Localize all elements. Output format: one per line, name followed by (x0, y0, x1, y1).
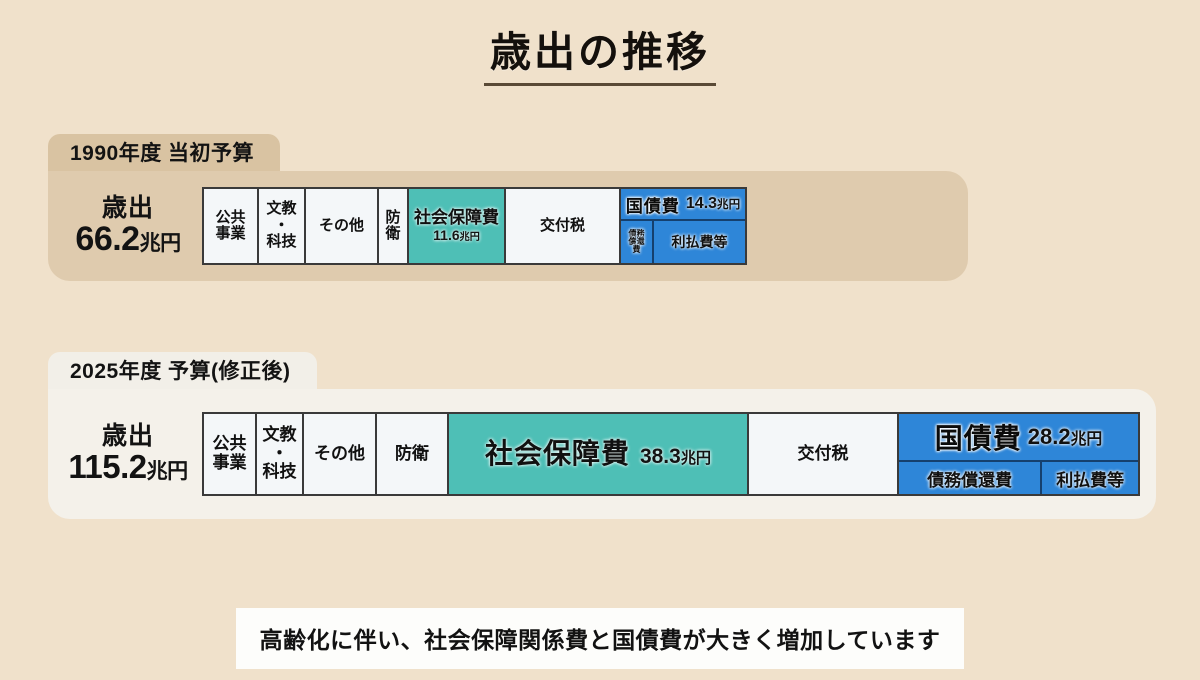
segment-defense-2025[interactable]: 防衛 (377, 414, 449, 494)
total-amount-2025: 115.2兆円 (54, 450, 202, 485)
page-title: 歳出の推移 (484, 18, 716, 86)
interest-payment-1990[interactable]: 利払費等 (654, 221, 745, 263)
card-body-2025: 歳出 115.2兆円 公共 事業 文教 ・ 科技 その他 防衛 社会保障費 38… (48, 389, 1156, 519)
segment-education-science-1990[interactable]: 文教 ・ 科技 (259, 189, 306, 263)
segment-label-public-works-2025: 公共 事業 (213, 435, 247, 472)
segment-label-social-security-1990: 社会保障費 (414, 209, 499, 228)
segment-social-security-inner-2025: 社会保障費 38.3兆円 (485, 439, 711, 470)
segment-public-works-2025[interactable]: 公共 事業 (204, 414, 257, 494)
segment-label-local-allocation-tax-2025: 交付税 (798, 445, 849, 464)
segment-amount-unit-social-security-2025: 兆円 (681, 450, 711, 467)
segment-education-science-2025[interactable]: 文教 ・ 科技 (257, 414, 304, 494)
segment-label-other-1990: その他 (319, 218, 364, 235)
budget-card-2025: 2025年度 予算(修正後) 歳出 115.2兆円 公共 事業 文教 ・ 科技 … (48, 352, 1156, 519)
segment-local-allocation-tax-1990[interactable]: 交付税 (506, 189, 621, 263)
segment-label-defense-1990: 防衛 (379, 210, 407, 243)
debt-service-amount-unit-1990: 兆円 (717, 199, 740, 211)
segment-label-public-works-1990: 公共 事業 (215, 210, 245, 243)
segment-social-security-1990[interactable]: 社会保障費 11.6兆円 (409, 189, 506, 263)
segment-amount-social-security-2025: 38.3兆円 (640, 445, 711, 469)
segment-amount-number-social-security-1990: 11.6 (433, 227, 459, 243)
debt-service-label-1990: 国債費 (626, 192, 680, 217)
debt-service-amount-2025: 28.2兆円 (1028, 424, 1103, 450)
segment-debt-service-1990[interactable]: 国債費 14.3兆円 債務 償還 費 利払費等 (621, 189, 745, 263)
debt-service-subsegments-1990: 債務 償還 費 利払費等 (621, 221, 745, 263)
total-unit-1990: 兆円 (140, 232, 181, 255)
total-expenditure-2025: 歳出 115.2兆円 (54, 423, 202, 484)
total-label-word-1990: 歳出 (54, 195, 202, 222)
total-expenditure-1990: 歳出 66.2兆円 (54, 195, 202, 258)
total-label-word-2025: 歳出 (54, 423, 202, 450)
total-amount-1990: 66.2兆円 (54, 221, 202, 257)
interest-payment-2025[interactable]: 利払費等 (1042, 462, 1138, 494)
segment-debt-service-2025[interactable]: 国債費 28.2兆円 債務償還費 利払費等 (899, 414, 1138, 494)
footer-caption: 高齢化に伴い、社会保障関係費と国債費が大きく増加しています (236, 608, 964, 669)
debt-service-amount-number-1990: 14.3 (686, 195, 717, 212)
card-tab-label-1990: 1990年度 当初予算 (48, 134, 280, 171)
card-tab-label-2025: 2025年度 予算(修正後) (48, 352, 317, 389)
debt-service-label-2025: 国債費 (935, 417, 1022, 457)
debt-redemption-1990[interactable]: 債務 償還 費 (621, 221, 654, 263)
segment-amount-social-security-1990: 11.6兆円 (433, 228, 480, 244)
stacked-bar-1990: 公共 事業 文教 ・ 科技 その他 防衛 社会保障費 11.6兆円 交付税 (202, 187, 747, 265)
debt-service-header-1990: 国債費 14.3兆円 (621, 189, 745, 221)
segment-label-education-science-2025: 文教 ・ 科技 (263, 426, 297, 482)
segment-local-allocation-tax-2025[interactable]: 交付税 (749, 414, 899, 494)
debt-service-amount-number-2025: 28.2 (1028, 424, 1071, 449)
segment-other-1990[interactable]: その他 (306, 189, 379, 263)
budget-card-1990: 1990年度 当初予算 歳出 66.2兆円 公共 事業 文教 ・ 科技 その他 … (48, 134, 968, 281)
stacked-bar-2025: 公共 事業 文教 ・ 科技 その他 防衛 社会保障費 38.3兆円 交付税 (202, 412, 1140, 496)
segment-label-defense-2025: 防衛 (395, 445, 429, 464)
card-body-1990: 歳出 66.2兆円 公共 事業 文教 ・ 科技 その他 防衛 社会保障費 11.… (48, 171, 968, 281)
debt-service-amount-unit-2025: 兆円 (1071, 431, 1103, 448)
total-number-2025: 115.2 (68, 448, 146, 485)
segment-amount-number-social-security-2025: 38.3 (640, 445, 681, 468)
debt-service-header-2025: 国債費 28.2兆円 (899, 414, 1138, 462)
segment-other-2025[interactable]: その他 (304, 414, 377, 494)
segment-amount-unit-social-security-1990: 兆円 (460, 232, 480, 243)
segment-public-works-1990[interactable]: 公共 事業 (204, 189, 259, 263)
page-title-container: 歳出の推移 (0, 18, 1200, 86)
debt-redemption-2025[interactable]: 債務償還費 (899, 462, 1042, 494)
debt-service-subsegments-2025: 債務償還費 利払費等 (899, 462, 1138, 494)
segment-label-education-science-1990: 文教 ・ 科技 (266, 201, 296, 251)
segment-defense-1990[interactable]: 防衛 (379, 189, 409, 263)
debt-service-amount-1990: 14.3兆円 (686, 195, 740, 213)
segment-label-local-allocation-tax-1990: 交付税 (540, 218, 585, 235)
total-number-1990: 66.2 (75, 220, 139, 258)
segment-social-security-2025[interactable]: 社会保障費 38.3兆円 (449, 414, 749, 494)
segment-social-security-inner-1990: 社会保障費 11.6兆円 (414, 209, 499, 243)
segment-label-other-2025: その他 (314, 445, 365, 464)
segment-label-social-security-2025: 社会保障費 (485, 439, 630, 470)
total-unit-2025: 兆円 (147, 460, 188, 483)
